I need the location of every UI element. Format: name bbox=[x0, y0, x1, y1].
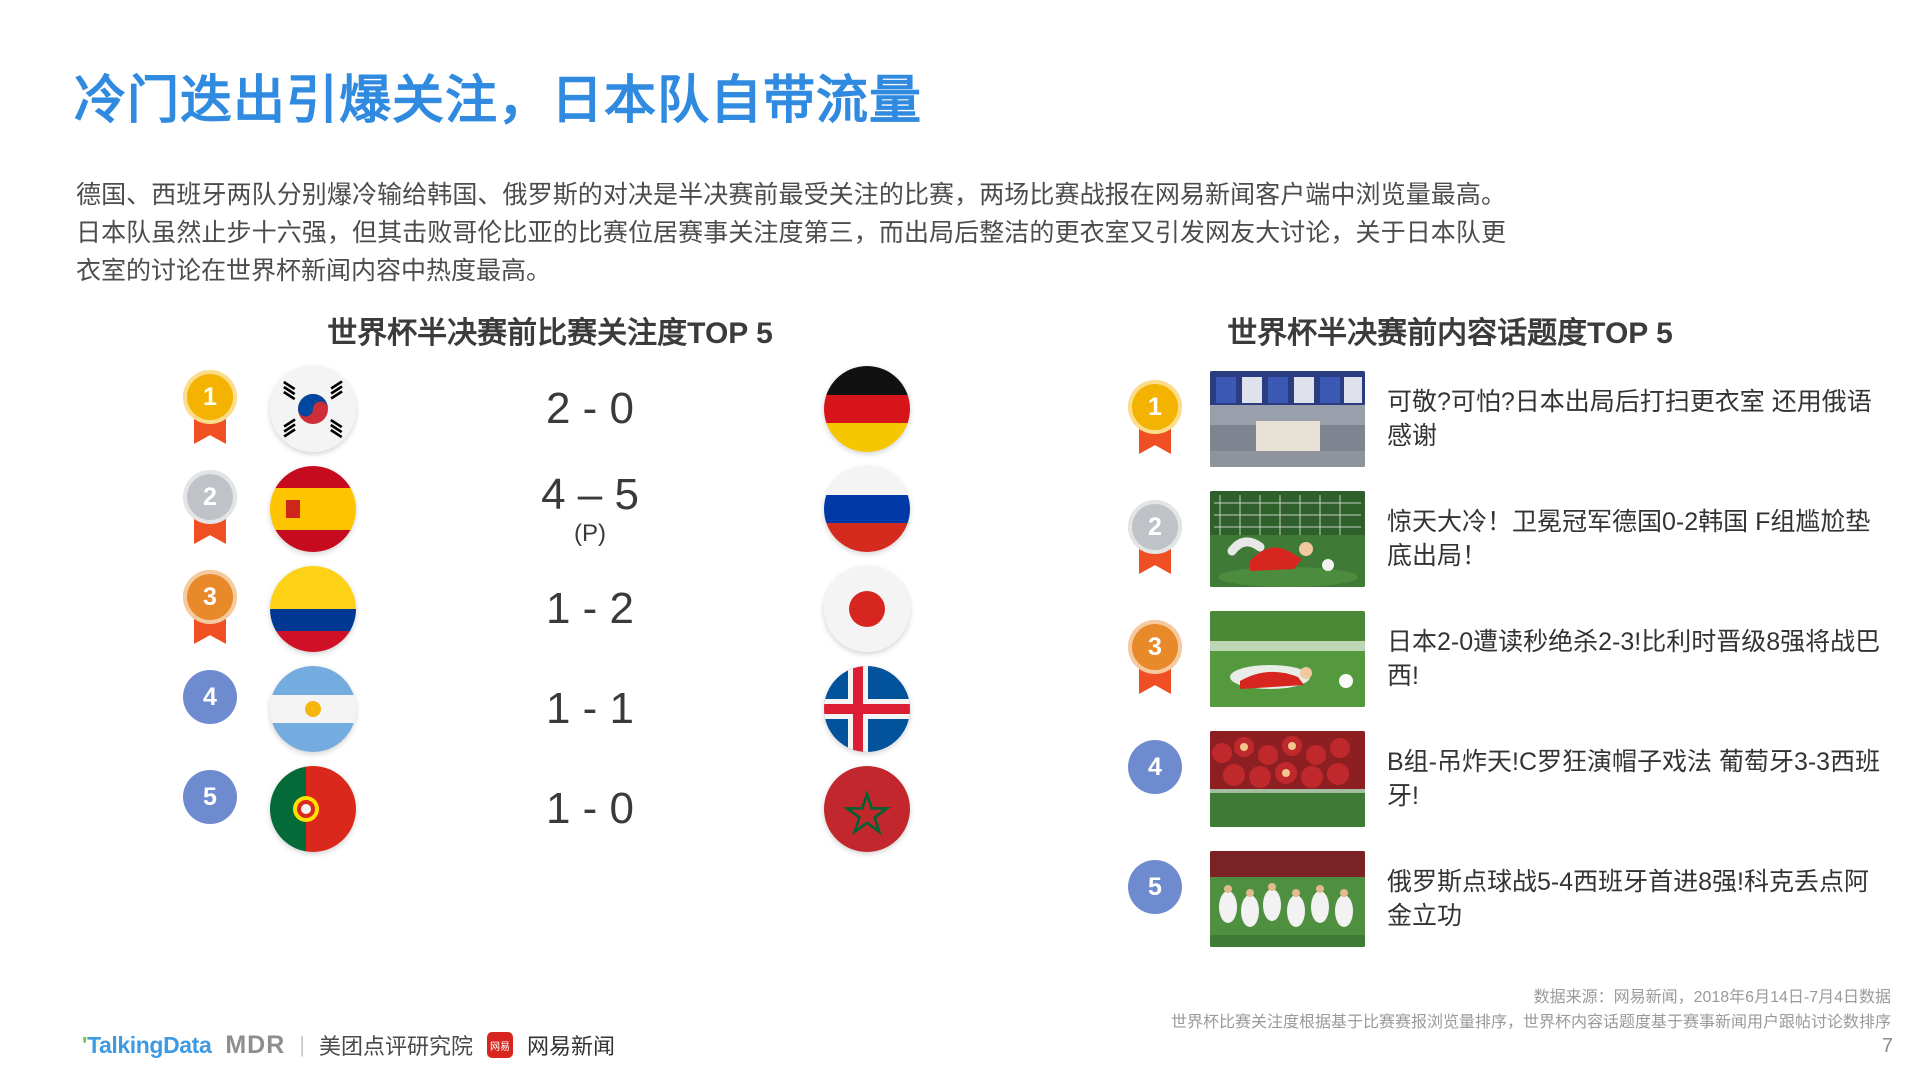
netease-badge-icon: 网易 bbox=[487, 1032, 513, 1058]
rank-medal-4: 4 bbox=[1128, 740, 1182, 818]
rank-medal-1: 1 bbox=[183, 370, 237, 448]
netease-news-logo: 网易新闻 bbox=[527, 1029, 615, 1061]
flag-iceland-icon bbox=[824, 666, 910, 752]
rank-number: 5 bbox=[1128, 860, 1182, 914]
score-cell: 1 - 0 bbox=[356, 786, 824, 832]
score-cell: 1 - 2 bbox=[356, 586, 824, 632]
right-section-heading: 世界杯半决赛前内容话题度TOP 5 bbox=[1090, 308, 1810, 352]
list-item[interactable]: 5 俄罗斯点球战5-4西班牙首进8强!科克丢点阿金立功 bbox=[1100, 840, 1890, 958]
list-item[interactable]: 2 惊天大冷！卫冕冠军德国0-2韩国 F组尴尬垫底出局！ bbox=[1100, 480, 1890, 598]
match-list: 1 2 - 0 bbox=[150, 360, 910, 860]
rank-number: 5 bbox=[183, 770, 237, 824]
source-line-1: 数据来源：网易新闻，2018年6月14日-7月4日数据 bbox=[1011, 986, 1891, 1011]
slide-canvas: 冷门迭出引爆关注，日本队自带流量 德国、西班牙两队分别爆冷输给韩国、俄罗斯的对决… bbox=[0, 0, 1921, 1080]
rank-number: 1 bbox=[1128, 380, 1182, 434]
news-headline[interactable]: B组-吊炸天!C罗狂演帽子戏法 葡萄牙3-3西班牙! bbox=[1387, 745, 1887, 814]
rank-medal-5: 5 bbox=[1128, 860, 1182, 938]
source-note: 数据来源：网易新闻，2018年6月14日-7月4日数据 世界杯比赛关注度根据基于… bbox=[1011, 986, 1891, 1036]
rank-number: 2 bbox=[1128, 500, 1182, 554]
page-title: 冷门迭出引爆关注，日本队自带流量 bbox=[74, 58, 922, 133]
rank-cell: 3 bbox=[1100, 620, 1210, 698]
rank-number: 3 bbox=[183, 570, 237, 624]
rank-cell: 3 bbox=[150, 570, 270, 648]
flag-morocco-icon bbox=[824, 766, 910, 852]
flag-russia-icon bbox=[824, 466, 910, 552]
rank-medal-2: 2 bbox=[1128, 500, 1182, 578]
rank-cell: 1 bbox=[150, 370, 270, 448]
news-list: 1 可敬?可怕?日本出局后打扫更衣室 还用俄语感谢 2 bbox=[1100, 360, 1890, 960]
score-value: 1 - 0 bbox=[546, 784, 634, 833]
score-value: 1 - 1 bbox=[546, 684, 634, 733]
news-thumbnail-goal-save[interactable] bbox=[1210, 491, 1365, 587]
flag-argentina-icon bbox=[270, 666, 356, 752]
flag-spain-icon bbox=[270, 466, 356, 552]
flag-korea-icon bbox=[270, 366, 356, 452]
rank-number: 3 bbox=[1128, 620, 1182, 674]
news-thumbnail-team-celebration[interactable] bbox=[1210, 851, 1365, 947]
rank-number: 1 bbox=[183, 370, 237, 424]
list-item[interactable]: 4 B组-吊炸天!C罗狂演帽子戏法 葡萄牙3-3西班牙! bbox=[1100, 720, 1890, 838]
penalty-note: (P) bbox=[356, 521, 824, 546]
rank-number: 2 bbox=[183, 470, 237, 524]
flag-portugal-icon bbox=[270, 766, 356, 852]
intro-paragraph: 德国、西班牙两队分别爆冷输给韩国、俄罗斯的对决是半决赛前最受关注的比赛，两场比赛… bbox=[76, 176, 1506, 290]
left-section-heading: 世界杯半决赛前比赛关注度TOP 5 bbox=[190, 308, 910, 352]
talkingdata-logo: 'TalkingData bbox=[82, 1032, 211, 1059]
rank-medal-2: 2 bbox=[183, 470, 237, 548]
list-item[interactable]: 1 可敬?可怕?日本出局后打扫更衣室 还用俄语感谢 bbox=[1100, 360, 1890, 478]
table-row: 1 2 - 0 bbox=[150, 360, 910, 458]
rank-cell: 1 bbox=[1100, 380, 1210, 458]
rank-cell: 2 bbox=[1100, 500, 1210, 578]
news-headline[interactable]: 惊天大冷！卫冕冠军德国0-2韩国 F组尴尬垫底出局！ bbox=[1387, 505, 1887, 574]
rank-cell: 5 bbox=[1100, 860, 1210, 938]
table-row: 5 1 - 0 bbox=[150, 760, 910, 858]
table-row: 3 1 - 2 bbox=[150, 560, 910, 658]
rank-medal-1: 1 bbox=[1128, 380, 1182, 458]
news-thumbnail-players-pitch[interactable] bbox=[1210, 611, 1365, 707]
news-thumbnail-locker-room[interactable] bbox=[1210, 371, 1365, 467]
footer-logos: 'TalkingData MDR | 美团点评研究院 网易 网易新闻 bbox=[82, 1029, 615, 1061]
list-item[interactable]: 3 日本2-0遭读秒绝杀2-3!比利时晋级8强将战巴西! bbox=[1100, 600, 1890, 718]
table-row: 2 4 – 5 (P) bbox=[150, 460, 910, 558]
news-headline[interactable]: 可敬?可怕?日本出局后打扫更衣室 还用俄语感谢 bbox=[1387, 385, 1887, 454]
score-cell: 4 – 5 (P) bbox=[356, 472, 824, 545]
rank-medal-4: 4 bbox=[183, 670, 237, 748]
rank-number: 4 bbox=[183, 670, 237, 724]
news-headline[interactable]: 日本2-0遭读秒绝杀2-3!比利时晋级8强将战巴西! bbox=[1387, 625, 1887, 694]
rank-number: 4 bbox=[1128, 740, 1182, 794]
rank-cell: 2 bbox=[150, 470, 270, 548]
meituan-research-logo: 美团点评研究院 bbox=[319, 1029, 473, 1061]
flag-germany-icon bbox=[824, 366, 910, 452]
mdr-logo: MDR bbox=[225, 1031, 285, 1060]
rank-medal-3: 3 bbox=[1128, 620, 1182, 698]
rank-cell: 4 bbox=[150, 670, 270, 748]
talkingdata-logo-text: TalkingData bbox=[87, 1032, 211, 1058]
rank-cell: 5 bbox=[150, 770, 270, 848]
score-value: 4 – 5 bbox=[541, 470, 639, 519]
table-row: 4 1 - 1 bbox=[150, 660, 910, 758]
score-cell: 1 - 1 bbox=[356, 686, 824, 732]
news-headline[interactable]: 俄罗斯点球战5-4西班牙首进8强!科克丢点阿金立功 bbox=[1387, 865, 1887, 934]
page-number: 7 bbox=[1882, 1035, 1893, 1058]
score-cell: 2 - 0 bbox=[356, 386, 824, 432]
score-value: 1 - 2 bbox=[546, 584, 634, 633]
flag-colombia-icon bbox=[270, 566, 356, 652]
news-thumbnail-crowd[interactable] bbox=[1210, 731, 1365, 827]
flag-japan-icon bbox=[824, 566, 910, 652]
logo-separator: | bbox=[299, 1032, 305, 1058]
source-line-2: 世界杯比赛关注度根据基于比赛赛报浏览量排序，世界杯内容话题度基于赛事新闻用户跟帖… bbox=[1011, 1011, 1891, 1036]
rank-medal-3: 3 bbox=[183, 570, 237, 648]
score-value: 2 - 0 bbox=[546, 384, 634, 433]
rank-cell: 4 bbox=[1100, 740, 1210, 818]
rank-medal-5: 5 bbox=[183, 770, 237, 848]
